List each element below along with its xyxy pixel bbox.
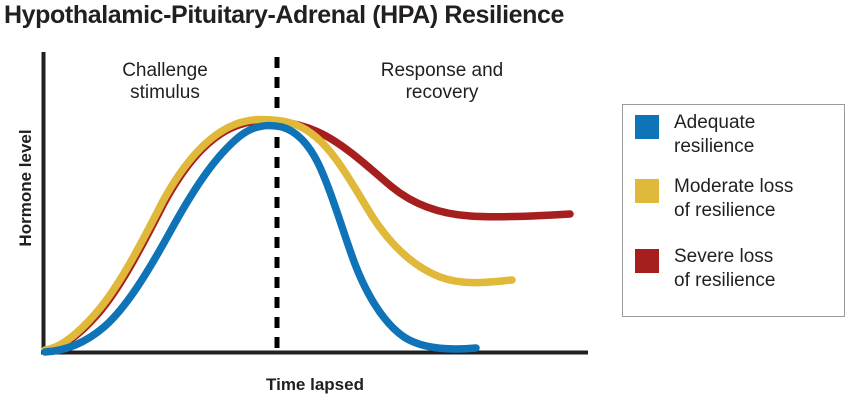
chart-legend: Adequate resilience Moderate loss of res… bbox=[622, 104, 845, 317]
legend-item-adequate-resilience: Adequate resilience bbox=[635, 111, 755, 159]
series-line-adequate-resilience bbox=[45, 126, 476, 352]
annotation-response-recovery: Response and recovery bbox=[322, 60, 562, 104]
legend-item-label: Severe loss of resilience bbox=[674, 245, 775, 293]
chart-plot-area: Hormone level Time lapsed Challenge stim… bbox=[0, 0, 620, 401]
annotation-challenge-stimulus: Challenge stimulus bbox=[60, 60, 270, 104]
legend-item-label: Moderate loss of resilience bbox=[674, 175, 793, 223]
series-line-severe-loss bbox=[45, 121, 570, 351]
legend-item-severe-loss: Severe loss of resilience bbox=[635, 245, 775, 293]
legend-item-label: Adequate resilience bbox=[674, 111, 755, 159]
y-axis-label: Hormone level bbox=[16, 118, 36, 258]
legend-item-moderate-loss: Moderate loss of resilience bbox=[635, 175, 793, 223]
legend-swatch-icon bbox=[635, 115, 659, 139]
legend-swatch-icon bbox=[635, 179, 659, 203]
x-axis-label: Time lapsed bbox=[200, 375, 430, 395]
legend-swatch-icon bbox=[635, 249, 659, 273]
